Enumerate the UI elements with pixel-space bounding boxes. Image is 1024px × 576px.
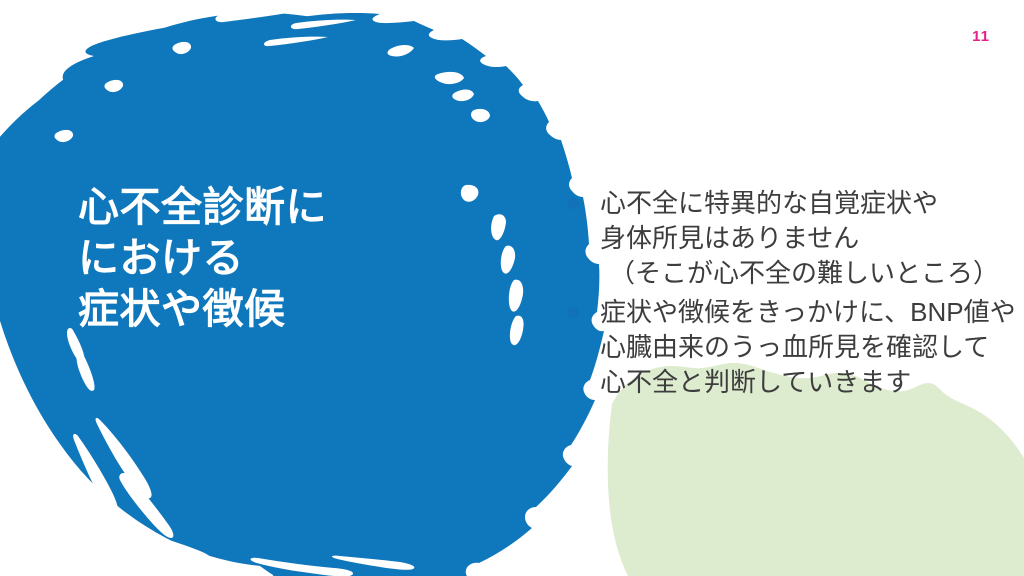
bullet-circle-icon (568, 198, 579, 209)
list-item: 症状や徴候をきっかけに、BNP値や 心臓由来のうっ血所見を確認して 心不全と判断… (562, 295, 1014, 400)
bullet-1-line-3: （そこが心不全の難しいところ） (600, 256, 1014, 291)
bullet-2-line-3: 心不全と判断していきます (600, 365, 1014, 400)
bullet-1-line-1: 心不全に特異的な自覚症状や (600, 186, 1014, 221)
body-content: 心不全に特異的な自覚症状や 身体所見はありません （そこが心不全の難しいところ）… (562, 186, 1014, 404)
slide-title: 心不全診断に における 症状や徴候 (78, 182, 478, 335)
title-line-2: における (78, 233, 478, 284)
list-item: 心不全に特異的な自覚症状や 身体所見はありません （そこが心不全の難しいところ） (562, 186, 1014, 291)
bullet-2-line-2: 心臓由来のうっ血所見を確認して (600, 330, 1014, 365)
bullet-1-line-2: 身体所見はありません (600, 221, 1014, 256)
slide-canvas: 心不全診断に における 症状や徴候 心不全に特異的な自覚症状や 身体所見はありま… (0, 0, 1024, 576)
title-line-1: 心不全診断に (78, 182, 478, 233)
bullet-circle-icon (568, 307, 579, 318)
page-number: 11 (972, 28, 990, 45)
title-line-3: 症状や徴候 (78, 284, 478, 335)
bullet-2-line-1: 症状や徴候をきっかけに、BNP値や (600, 295, 1014, 330)
